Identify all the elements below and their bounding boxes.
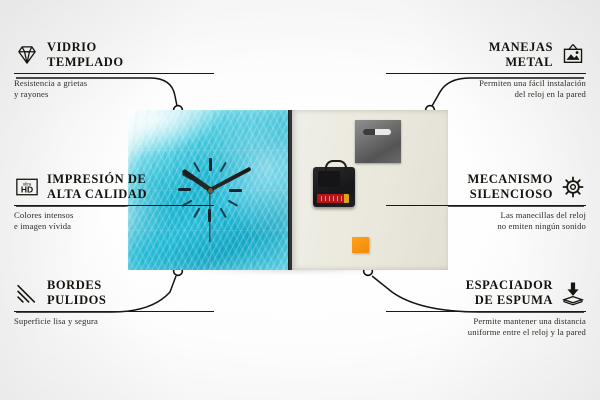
callout-manejas-metal: MANEJASMETAL Permiten una fácil instalac… [386, 40, 586, 101]
callout-rule [386, 205, 586, 207]
infographic-canvas: VIDRIOTEMPLADO Resistencia a grietasy ra… [0, 0, 600, 400]
callout-title: ESPACIADORDE ESPUMA [466, 278, 553, 308]
callout-rule [386, 311, 586, 313]
callout-title: BORDESPULIDOS [47, 278, 106, 308]
callout-header: ultra HD IMPRESIÓN DEALTA CALIDAD [14, 172, 214, 202]
callout-impresion-alta-calidad: ultra HD IMPRESIÓN DEALTA CALIDAD Colore… [14, 172, 214, 233]
callout-rule [14, 73, 214, 75]
callout-description: Superficie lisa y segura [14, 316, 214, 327]
callout-header: BORDESPULIDOS [14, 278, 214, 308]
callout-description: Colores intensose imagen vívida [14, 210, 214, 233]
callout-header: VIDRIOTEMPLADO [14, 40, 214, 70]
picture-frame-hook-icon [560, 42, 586, 68]
callout-description: Permite mantener una distanciauniforme e… [386, 316, 586, 339]
callout-title: MANEJASMETAL [489, 40, 553, 70]
callout-description: Resistencia a grietasy rayones [14, 78, 214, 101]
callout-title: VIDRIOTEMPLADO [47, 40, 124, 70]
callout-header: MANEJASMETAL [386, 40, 586, 70]
mechanism-housing [318, 171, 340, 187]
callout-rule [14, 205, 214, 207]
polished-edges-icon [14, 280, 40, 306]
diamond-icon [14, 42, 40, 68]
callout-title: IMPRESIÓN DEALTA CALIDAD [47, 172, 147, 202]
foam-spacer-arrow-icon [560, 280, 586, 306]
callout-header: ESPACIADORDE ESPUMA [386, 278, 586, 308]
callout-header: MECANISMOSILENCIOSO [386, 172, 586, 202]
hanger-keyhole-slot [363, 129, 391, 135]
quartz-mechanism [313, 167, 355, 207]
callout-description: Las manecillas del relojno emiten ningún… [386, 210, 586, 233]
callout-espaciador-de-espuma: ESPACIADORDE ESPUMA Permite mantener una… [386, 278, 586, 339]
callout-title: MECANISMOSILENCIOSO [467, 172, 553, 202]
mechanism-hanging-loop [325, 160, 347, 171]
callout-bordes-pulidos: BORDESPULIDOS Superficie lisa y segura [14, 278, 214, 327]
callout-rule [14, 311, 214, 313]
ultra-hd-icon: ultra HD [14, 174, 40, 200]
callout-vidrio-templado: VIDRIOTEMPLADO Resistencia a grietasy ra… [14, 40, 214, 101]
gear-icon [560, 174, 586, 200]
callout-rule [386, 73, 586, 75]
foam-spacer [352, 237, 369, 253]
svg-text:HD: HD [21, 184, 33, 194]
callout-mecanismo-silencioso: MECANISMOSILENCIOSO Las manecillas del r… [386, 172, 586, 233]
metal-hanger-plate [355, 120, 401, 163]
battery [317, 194, 349, 203]
callout-description: Permiten una fácil instalacióndel reloj … [386, 78, 586, 101]
